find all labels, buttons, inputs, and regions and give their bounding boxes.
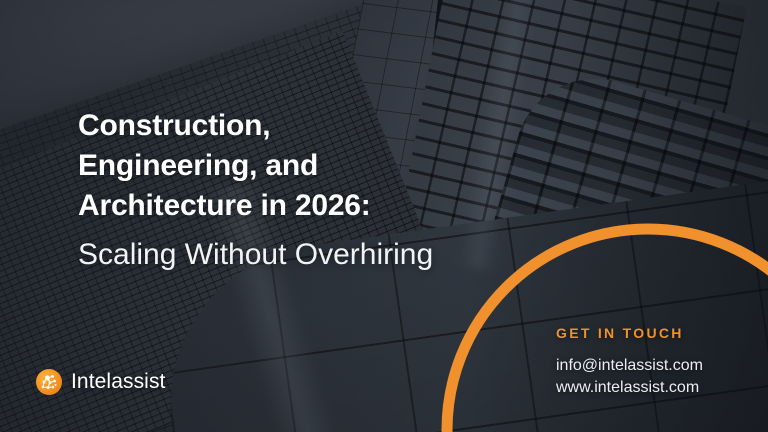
headline-line-2: Engineering, and [78, 146, 548, 186]
headline-line-1: Construction, [78, 106, 548, 146]
intelassist-network-mark-icon [36, 369, 62, 395]
page-subtitle: Scaling Without Overhiring [78, 236, 433, 274]
brand-wordmark: Intelassist [71, 370, 165, 394]
headline-line-3: Architecture in 2026: [78, 186, 548, 226]
contact-heading: GET IN TOUCH [556, 325, 703, 341]
promo-banner: Construction, Engineering, and Architect… [0, 0, 768, 432]
contact-email[interactable]: info@intelassist.com [556, 355, 703, 377]
page-title: Construction, Engineering, and Architect… [78, 106, 548, 226]
contact-website[interactable]: www.intelassist.com [556, 377, 703, 399]
brand-logo: Intelassist [36, 369, 165, 395]
contact-block: GET IN TOUCH info@intelassist.com www.in… [556, 325, 703, 399]
